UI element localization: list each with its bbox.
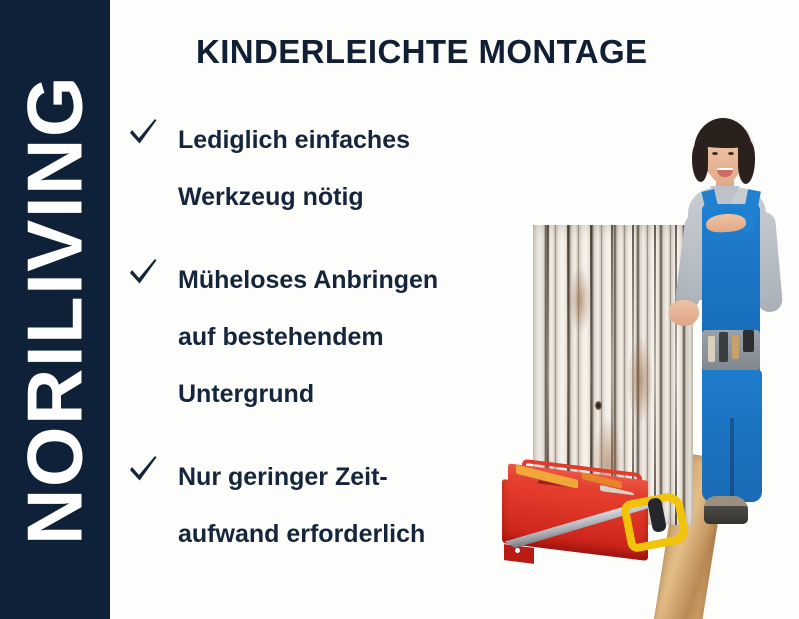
- worker-hair-left: [692, 142, 708, 182]
- toolbox-foot: [504, 544, 534, 564]
- toolbox: [498, 466, 678, 576]
- brand-sidebar: NORILIVING: [0, 0, 110, 619]
- list-item-text: Nur geringer Zeit- aufwand erforderlich: [178, 449, 496, 563]
- worker-eye-right: [728, 152, 734, 155]
- worker-boot: [704, 496, 748, 524]
- worker-tool-pouch: [702, 330, 760, 374]
- product-photo: [470, 0, 799, 619]
- handsaw-blade-hole: [515, 548, 520, 553]
- list-item-line: Müheloses Anbringen: [178, 252, 496, 309]
- list-item-line: Nur geringer Zeit-: [178, 449, 496, 506]
- list-item-line: aufwand erforderlich: [178, 506, 496, 563]
- list-item-line: Untergrund: [178, 366, 496, 423]
- worker-eye-left: [712, 152, 718, 155]
- list-item-line: auf bestehendem: [178, 309, 496, 366]
- worker-hand-on-panel-side: [669, 300, 699, 326]
- check-icon: [126, 453, 160, 487]
- list-item-text: Lediglich einfaches Werkzeug nötig: [178, 112, 496, 226]
- list-item-line: Lediglich einfaches: [178, 112, 496, 169]
- worker-hair-right: [738, 140, 755, 184]
- brand-name: NORILIVING: [10, 74, 101, 544]
- list-item-text: Müheloses Anbringen auf bestehendem Unte…: [178, 252, 496, 423]
- worker-trouser-seam: [730, 418, 734, 502]
- feature-list: Lediglich einfaches Werkzeug nötig Mühel…: [126, 112, 496, 589]
- list-item: Lediglich einfaches Werkzeug nötig: [126, 112, 496, 226]
- list-item: Nur geringer Zeit- aufwand erforderlich: [126, 449, 496, 563]
- list-item-line: Werkzeug nötig: [178, 169, 496, 226]
- check-icon: [126, 116, 160, 150]
- worker-figure: [666, 118, 799, 618]
- promo-banner: NORILIVING KINDERLEICHTE MONTAGE Ledigli…: [0, 0, 799, 619]
- check-icon: [126, 256, 160, 290]
- list-item: Müheloses Anbringen auf bestehendem Unte…: [126, 252, 496, 423]
